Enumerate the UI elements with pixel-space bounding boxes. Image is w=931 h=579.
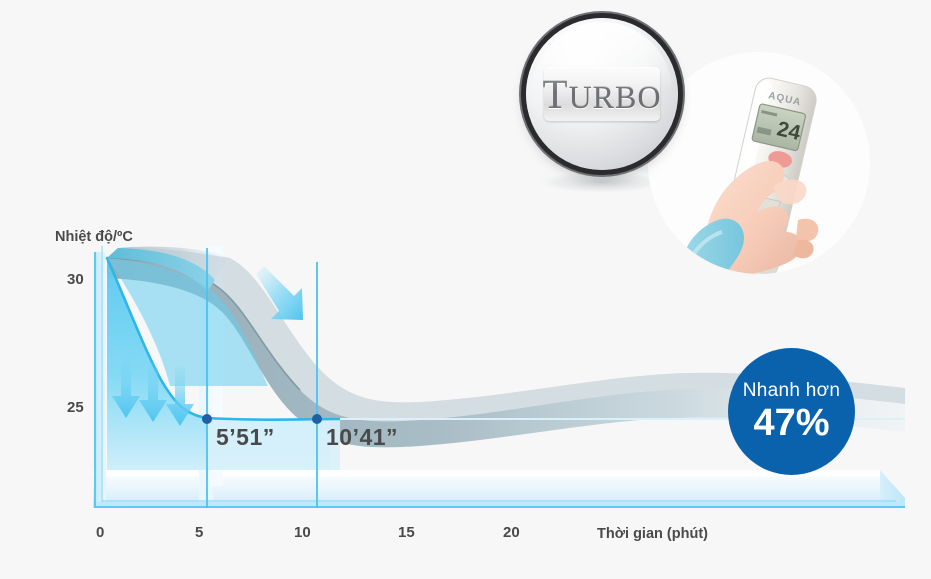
x-tick-20: 20 bbox=[503, 524, 520, 541]
x-tick-10: 10 bbox=[294, 524, 311, 541]
y-axis-label: Nhiệt độ/ºC bbox=[55, 229, 133, 245]
remote-illustration: AQUA 24 bbox=[648, 52, 870, 274]
normal-time-label: 10’41” bbox=[326, 424, 398, 451]
y-tick-25: 25 bbox=[67, 399, 84, 416]
infographic-canvas: Nhiệt độ/ºC Thời gian (phút) 30 25 0 5 1… bbox=[0, 0, 931, 579]
turbo-time-label: 5’51” bbox=[216, 424, 275, 451]
x-axis-label: Thời gian (phút) bbox=[597, 526, 708, 542]
badge-line-2: 47% bbox=[753, 404, 829, 442]
y-tick-30: 30 bbox=[67, 271, 84, 288]
x-tick-0: 0 bbox=[96, 524, 104, 541]
status-badge: Nhanh hơn 47% bbox=[728, 348, 855, 475]
magnifier-icon: TURBO bbox=[526, 18, 678, 170]
badge-line-1: Nhanh hơn bbox=[743, 381, 841, 400]
x-tick-5: 5 bbox=[195, 524, 203, 541]
remote-control-photo: AQUA 24 bbox=[648, 52, 870, 274]
x-tick-15: 15 bbox=[398, 524, 415, 541]
